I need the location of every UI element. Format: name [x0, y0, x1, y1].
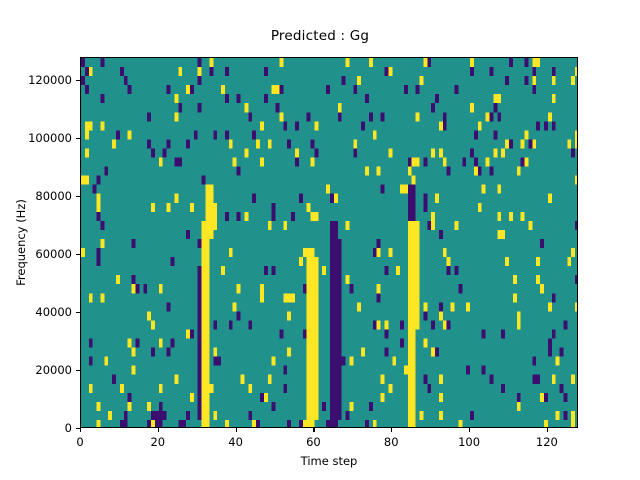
x-tick-label: 120	[536, 435, 558, 449]
x-tick-mark	[313, 428, 314, 432]
y-tick-mark	[76, 312, 80, 313]
y-tick-label: 0	[0, 421, 72, 435]
x-tick-mark	[158, 428, 159, 432]
x-tick-label: 0	[76, 435, 83, 449]
y-tick-label: 80000	[0, 189, 72, 203]
y-tick-label: 60000	[0, 247, 72, 261]
x-tick-label: 40	[228, 435, 243, 449]
y-tick-mark	[76, 196, 80, 197]
x-tick-mark	[80, 428, 81, 432]
y-tick-label: 40000	[0, 305, 72, 319]
page-title: Predicted : Gg	[0, 28, 640, 44]
y-tick-mark	[76, 370, 80, 371]
x-tick-mark	[469, 428, 470, 432]
x-tick-mark	[236, 428, 237, 432]
heatmap-image	[81, 58, 578, 428]
x-tick-label: 60	[306, 435, 321, 449]
x-tick-label: 20	[150, 435, 165, 449]
y-tick-mark	[76, 80, 80, 81]
x-tick-mark	[547, 428, 548, 432]
y-tick-mark	[76, 138, 80, 139]
x-axis-label: Time step	[80, 454, 578, 468]
figure-canvas: Predicted : Gg Frequency (Hz) Time step …	[0, 0, 640, 480]
x-tick-label: 100	[458, 435, 480, 449]
y-tick-label: 100000	[0, 131, 72, 145]
x-tick-mark	[391, 428, 392, 432]
y-tick-mark	[76, 254, 80, 255]
heatmap-plot-area[interactable]	[80, 57, 578, 428]
y-tick-label: 20000	[0, 363, 72, 377]
x-tick-label: 80	[384, 435, 399, 449]
y-tick-label: 120000	[0, 73, 72, 87]
